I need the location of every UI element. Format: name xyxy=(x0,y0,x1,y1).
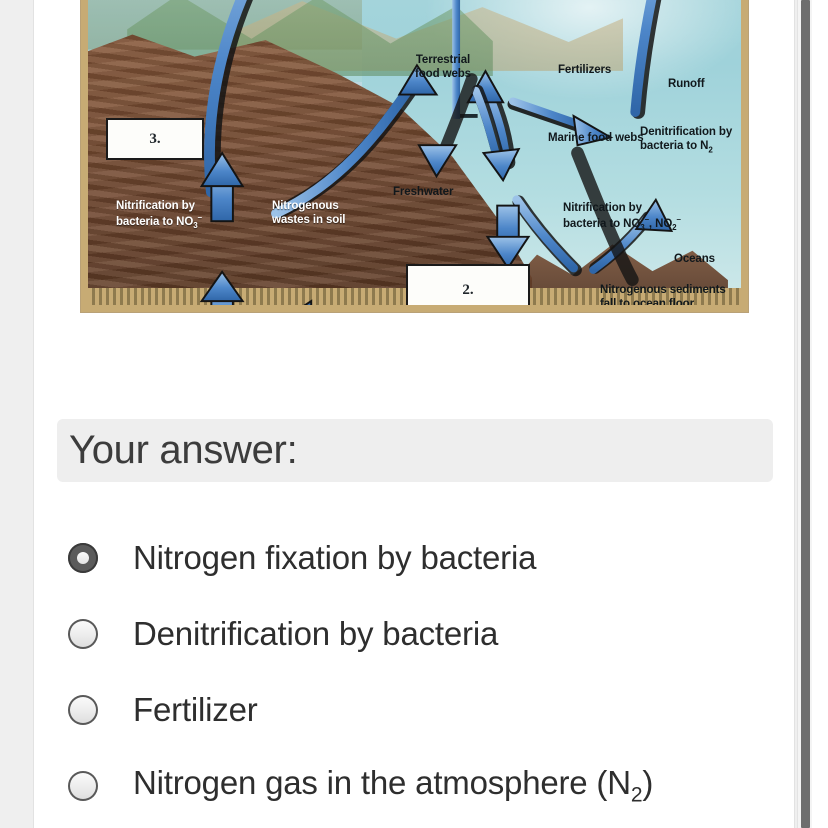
option-row-3[interactable]: Fertilizer xyxy=(57,672,773,748)
radio-button-4[interactable] xyxy=(68,771,98,801)
figure-blank-box-2[interactable]: 2. xyxy=(406,264,530,305)
quiz-page-card: Terrestrial food webs Fertilizers Runoff… xyxy=(33,0,795,828)
option-label-4: Nitrogen gas in the atmosphere (N2) xyxy=(133,764,653,808)
radio-button-2[interactable] xyxy=(68,619,98,649)
option-label-2: Denitrification by bacteria xyxy=(133,615,498,653)
option-label-3: Fertilizer xyxy=(133,691,258,729)
option-label-4-subscript: 2 xyxy=(631,784,642,807)
label-fertilizers: Fertilizers xyxy=(558,63,611,77)
vertical-scrollbar-track[interactable] xyxy=(797,0,812,828)
browser-viewport: Terrestrial food webs Fertilizers Runoff… xyxy=(0,0,828,828)
label-nitrogenous-sediments: Nitrogenous sediments fall to ocean floo… xyxy=(600,283,741,305)
option-row-2[interactable]: Denitrification by bacteria xyxy=(57,596,773,672)
scrollbar-outer-gutter xyxy=(812,0,828,828)
label-terrestrial-food-webs: Terrestrial food webs xyxy=(388,53,498,81)
answer-options-list: Nitrogen fixation by bacteria Denitrific… xyxy=(57,520,773,824)
figure-ornate-frame: Terrestrial food webs Fertilizers Runoff… xyxy=(81,0,748,312)
label-runoff: Runoff xyxy=(668,77,704,91)
label-oceans: Oceans xyxy=(674,252,715,266)
figure-blank-box-3[interactable]: 3. xyxy=(106,118,204,160)
option-label-1: Nitrogen fixation by bacteria xyxy=(133,539,536,577)
label-denitrification-n2: Denitrification by bacteria to N2 xyxy=(640,125,741,155)
option-row-1[interactable]: Nitrogen fixation by bacteria xyxy=(57,520,773,596)
vertical-scrollbar-thumb[interactable] xyxy=(801,0,810,828)
label-freshwater: Freshwater xyxy=(393,185,453,199)
option-row-4[interactable]: Nitrogen gas in the atmosphere (N2) xyxy=(57,748,773,824)
radio-button-1[interactable] xyxy=(68,543,98,573)
label-ocean-nitrification: Nitrification by bacteria to NO3–, NO2– xyxy=(563,201,733,233)
label-marine-food-webs: Marine food webs xyxy=(548,131,644,145)
label-nitrification-no3: Nitrification by bacteria to NO3– xyxy=(116,199,236,231)
label-nitrogenous-wastes: Nitrogenous wastes in soil xyxy=(272,199,392,227)
your-answer-label: Your answer: xyxy=(69,428,297,473)
figure-artwork: Terrestrial food webs Fertilizers Runoff… xyxy=(88,0,741,305)
option-label-4-text: Nitrogen gas in the atmosphere (N xyxy=(133,764,631,801)
radio-button-3[interactable] xyxy=(68,695,98,725)
nitrogen-cycle-figure[interactable]: Terrestrial food webs Fertilizers Runoff… xyxy=(81,0,748,312)
your-answer-banner: Your answer: xyxy=(57,419,773,482)
option-label-4-tail: ) xyxy=(642,764,653,801)
